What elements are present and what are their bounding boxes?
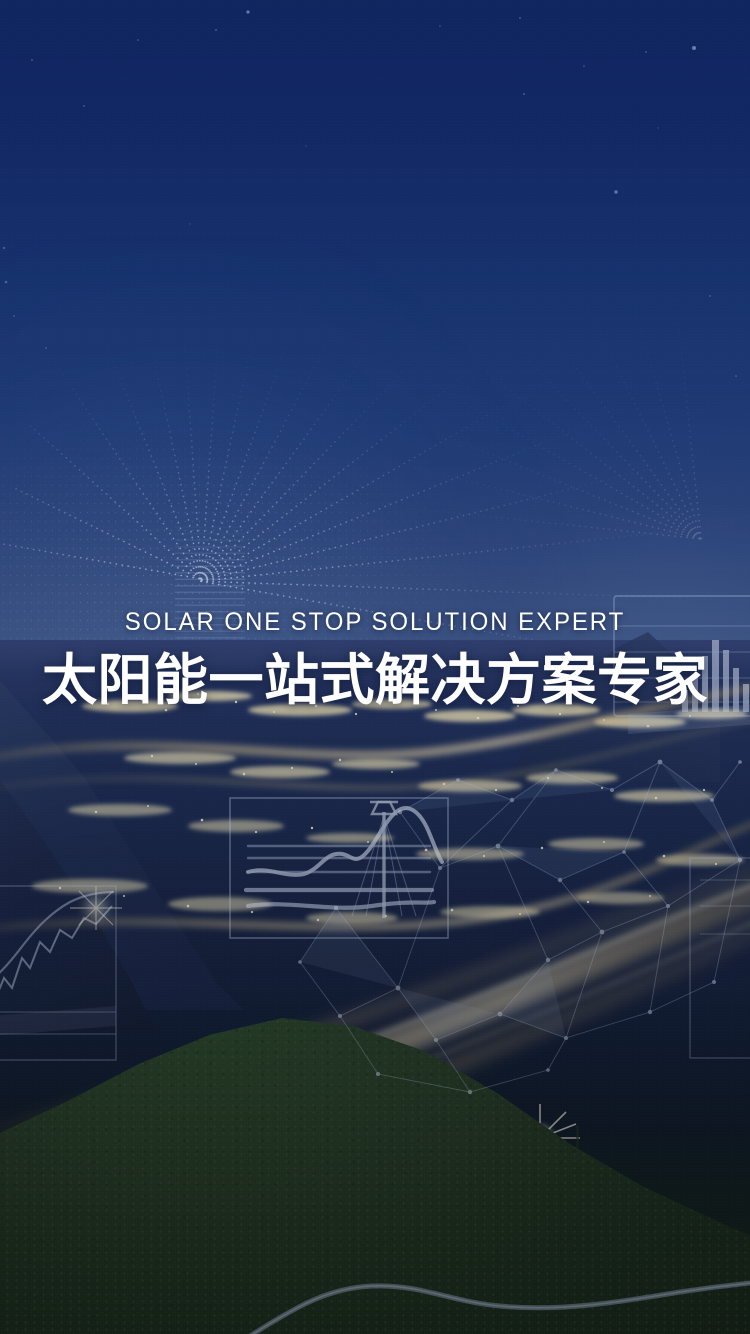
banner-eyebrow: SOLAR ONE STOP SOLUTION EXPERT [15,606,735,638]
banner-headline: 太阳能一站式解决方案专家 [0,646,750,714]
banner-copy: SOLAR ONE STOP SOLUTION EXPERT 太阳能一站式解决方… [0,606,750,714]
banner-stage: SOLAR ONE STOP SOLUTION EXPERT 太阳能一站式解决方… [0,0,750,1334]
